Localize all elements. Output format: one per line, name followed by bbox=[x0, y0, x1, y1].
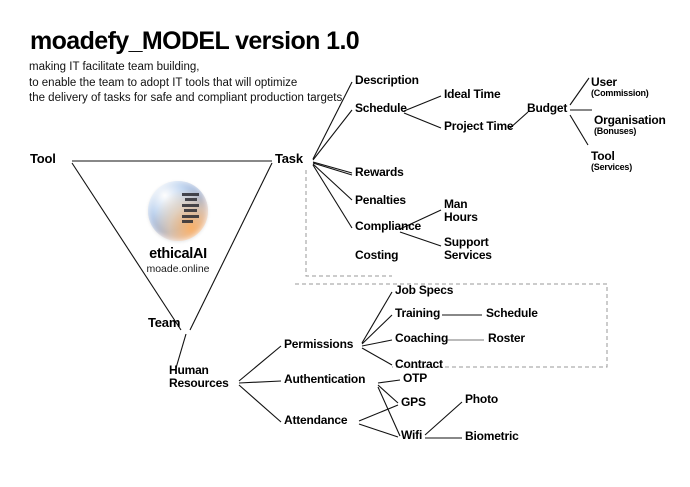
logo-url: moade.online bbox=[126, 263, 230, 275]
node-tool[interactable]: Tool bbox=[30, 152, 56, 166]
edge-hr-attendance bbox=[239, 385, 281, 422]
node-otp[interactable]: OTP bbox=[403, 372, 427, 385]
node-tool-leaf[interactable]: Tool (Services) bbox=[591, 137, 632, 185]
node-ideal-time[interactable]: Ideal Time bbox=[444, 88, 500, 101]
edge-budget-user bbox=[570, 78, 589, 105]
node-user-sublabel: (Commission) bbox=[591, 89, 649, 98]
edge-permissions-training bbox=[362, 315, 392, 344]
node-tool-leaf-sublabel: (Services) bbox=[591, 163, 632, 172]
edge-costing-supportservices bbox=[400, 232, 441, 246]
node-budget[interactable]: Budget bbox=[527, 102, 567, 115]
edge-task-rewards bbox=[313, 162, 352, 173]
node-organisation-label: Organisation bbox=[594, 113, 666, 127]
edge-permissions-coaching bbox=[362, 340, 392, 346]
node-photo[interactable]: Photo bbox=[465, 393, 498, 406]
edge-permissions-jobspecs bbox=[362, 292, 392, 343]
node-team[interactable]: Team bbox=[148, 316, 180, 330]
node-task[interactable]: Task bbox=[275, 152, 303, 166]
node-costing[interactable]: Costing bbox=[355, 249, 398, 262]
edge-schedule-projecttime bbox=[404, 113, 441, 128]
logo-name: ethicalAI bbox=[126, 246, 230, 262]
node-training-schedule[interactable]: Schedule bbox=[486, 307, 538, 320]
model-diagram-canvas: moadefy_MODEL version 1.0 making IT faci… bbox=[0, 0, 690, 487]
edge-hr-authentication bbox=[239, 381, 281, 383]
edge-hr-permissions bbox=[239, 346, 281, 381]
node-gps[interactable]: GPS bbox=[401, 396, 426, 409]
node-tool-leaf-label: Tool bbox=[591, 149, 615, 163]
edge-wifi-photo bbox=[425, 402, 462, 435]
node-compliance[interactable]: Compliance bbox=[355, 220, 421, 233]
node-wifi[interactable]: Wifi bbox=[401, 429, 422, 442]
edge-permissions-contract bbox=[362, 348, 392, 365]
node-permissions[interactable]: Permissions bbox=[284, 338, 353, 351]
node-coaching[interactable]: Coaching bbox=[395, 332, 448, 345]
node-biometric[interactable]: Biometric bbox=[465, 430, 519, 443]
edge-budget-tool bbox=[570, 115, 588, 145]
edge-attendance-wifi bbox=[359, 424, 398, 437]
ethicalai-logo: ethicalAI moade.online bbox=[126, 181, 230, 275]
node-user-label: User bbox=[591, 75, 617, 89]
sphere-globe-icon bbox=[148, 181, 208, 241]
node-attendance[interactable]: Attendance bbox=[284, 414, 347, 427]
edge-task-costing bbox=[313, 165, 352, 228]
node-description[interactable]: Description bbox=[355, 74, 419, 87]
node-man-hours[interactable]: Man Hours bbox=[444, 198, 478, 223]
node-coaching-roster[interactable]: Roster bbox=[488, 332, 525, 345]
edge-task-schedule bbox=[313, 110, 352, 160]
node-job-specs[interactable]: Job Specs bbox=[395, 284, 453, 297]
edge-schedule-idealtime bbox=[404, 96, 441, 111]
node-training[interactable]: Training bbox=[395, 307, 440, 320]
edge-task-description bbox=[313, 82, 352, 159]
node-authentication[interactable]: Authentication bbox=[284, 373, 365, 386]
node-schedule[interactable]: Schedule bbox=[355, 102, 407, 115]
edge-authentication-otp bbox=[378, 380, 400, 383]
node-contract[interactable]: Contract bbox=[395, 358, 443, 371]
node-project-time[interactable]: Project Time bbox=[444, 120, 513, 133]
node-support-services[interactable]: Support Services bbox=[444, 236, 492, 261]
node-penalties[interactable]: Penalties bbox=[355, 194, 406, 207]
node-human-resources[interactable]: Human Resources bbox=[169, 364, 229, 389]
node-rewards[interactable]: Rewards bbox=[355, 166, 404, 179]
logo-glyph-marks bbox=[182, 193, 199, 223]
node-organisation-sublabel: (Bonuses) bbox=[594, 127, 666, 136]
